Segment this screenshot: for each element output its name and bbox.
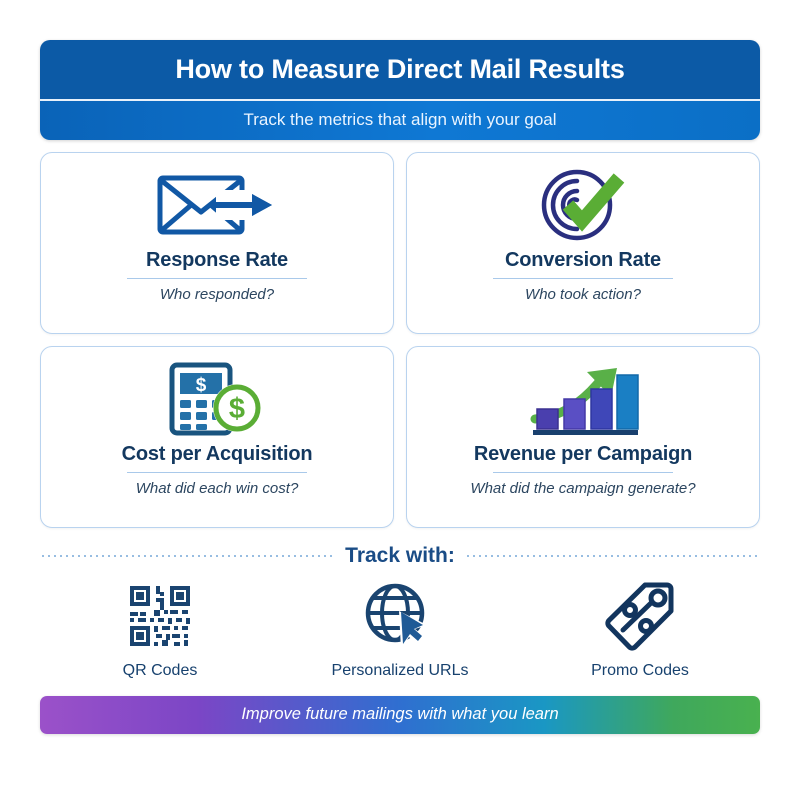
metric-title: Conversion Rate (505, 249, 661, 272)
track-method-label: QR Codes (123, 662, 198, 680)
track-method-label: Personalized URLs (332, 662, 469, 680)
track-method-list: QR Codes Personalized URLs (40, 580, 760, 680)
bar-chart-growth-icon (525, 361, 641, 437)
calculator-dollar-icon: $ $ (166, 361, 268, 437)
metric-title: Cost per Acquisition (122, 443, 313, 466)
page-title: How to Measure Direct Mail Results (40, 40, 760, 99)
title-divider (493, 472, 673, 474)
svg-text:$: $ (196, 375, 207, 396)
title-divider (127, 472, 307, 474)
metric-question: Who took action? (525, 286, 641, 303)
metric-question: Who responded? (160, 286, 274, 303)
track-method-qr-codes: QR Codes (40, 580, 280, 680)
target-checkmark-icon (535, 167, 631, 243)
price-tag-percent-icon (604, 580, 676, 652)
metric-question: What did the campaign generate? (470, 480, 695, 497)
track-method-personalized-urls: Personalized URLs (280, 580, 520, 680)
metric-question: What did each win cost? (136, 480, 299, 497)
metric-card-revenue-per-campaign: Revenue per Campaign What did the campai… (406, 346, 760, 528)
envelope-arrow-icon (156, 167, 278, 243)
infographic-page: How to Measure Direct Mail Results Track… (0, 0, 800, 800)
track-method-promo-codes: Promo Codes (520, 580, 760, 680)
footer-banner: Improve future mailings with what you le… (40, 696, 760, 734)
metric-card-cost-per-acquisition: $ $ Cost per Acquisi (40, 346, 394, 528)
title-divider (493, 278, 673, 280)
qr-code-icon (126, 580, 194, 652)
metric-card-grid: Response Rate Who responded? Conversion … (40, 152, 760, 528)
metric-title: Response Rate (146, 249, 288, 272)
metric-title: Revenue per Campaign (474, 443, 692, 466)
track-method-label: Promo Codes (591, 662, 689, 680)
metric-card-conversion-rate: Conversion Rate Who took action? (406, 152, 760, 334)
dotted-divider-left (40, 555, 335, 557)
track-with-label: Track with: (345, 544, 455, 568)
track-with-header: Track with: (40, 544, 760, 568)
track-with-section: Track with: (40, 544, 760, 680)
metric-card-response-rate: Response Rate Who responded? (40, 152, 394, 334)
page-subtitle: Track the metrics that align with your g… (40, 99, 760, 140)
globe-cursor-icon (363, 580, 437, 652)
footer-text: Improve future mailings with what you le… (241, 705, 558, 724)
svg-text:$: $ (229, 393, 245, 425)
dotted-divider-right (465, 555, 760, 557)
title-divider (127, 278, 307, 280)
header-banner: How to Measure Direct Mail Results Track… (40, 40, 760, 140)
